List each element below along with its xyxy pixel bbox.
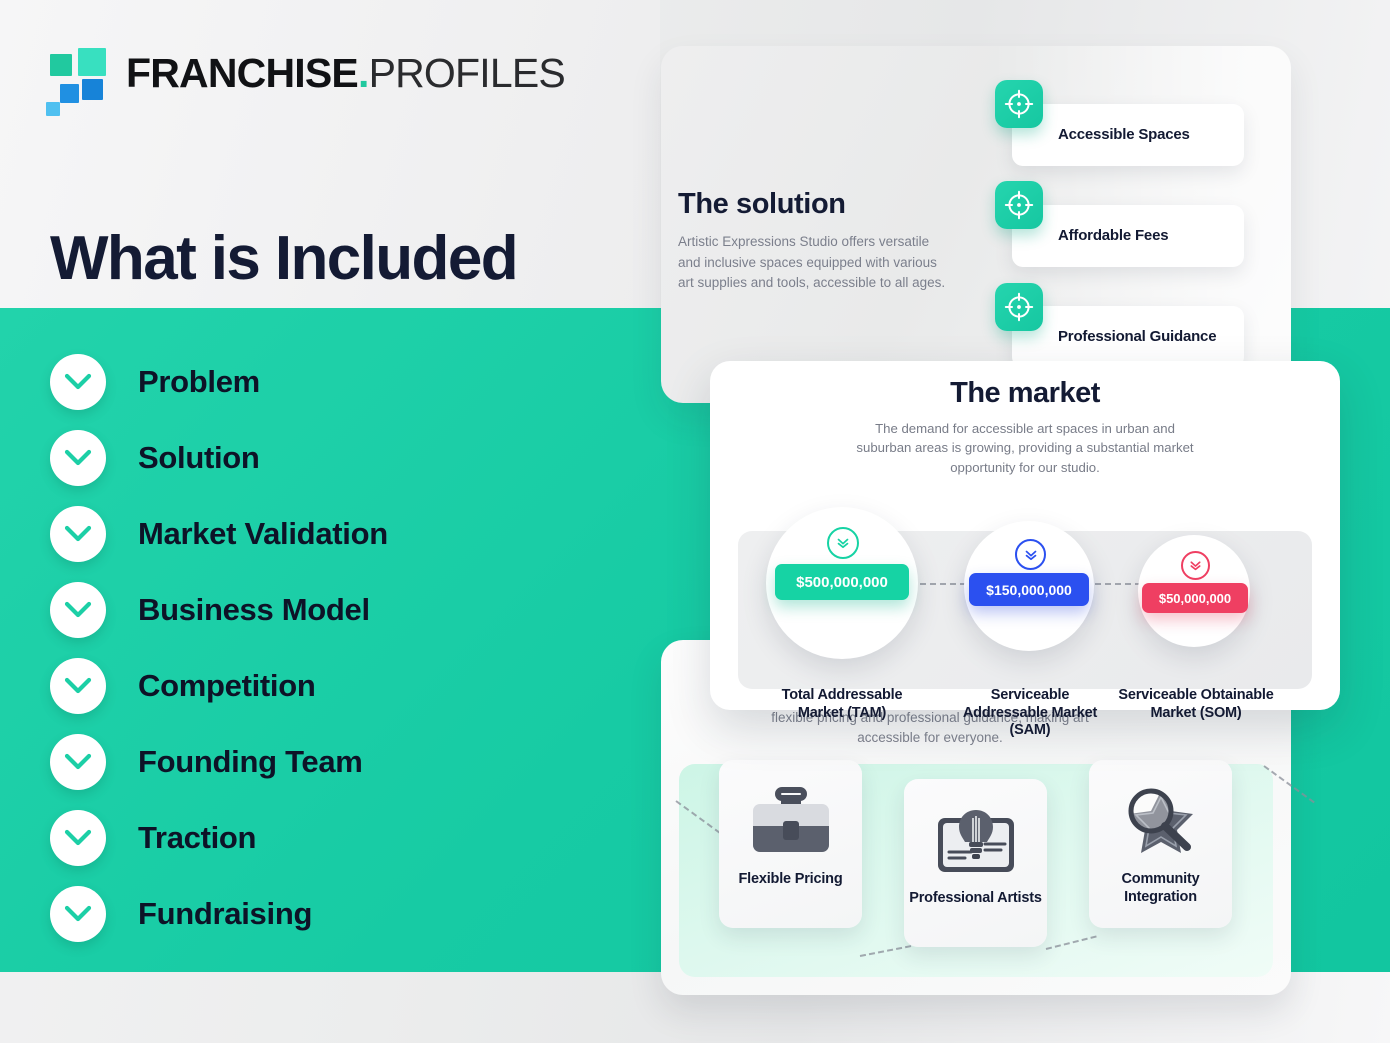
- sidebar-item-label: Market Validation: [138, 516, 388, 552]
- validation-card-flexible-pricing[interactable]: Flexible Pricing: [719, 760, 862, 928]
- validation-card-label: Professional Artists: [909, 889, 1041, 907]
- solution-feature-card[interactable]: Affordable Fees: [1012, 205, 1244, 267]
- chevron-down-icon: [50, 734, 106, 790]
- sidebar-item-market-validation[interactable]: Market Validation: [0, 496, 640, 572]
- double-chevron-down-icon: [827, 527, 859, 559]
- solution-heading: The solution: [678, 188, 846, 221]
- market-connector-1: [920, 583, 966, 585]
- brand-logo[interactable]: FRANCHISE.PROFILES: [46, 48, 565, 98]
- chevron-down-icon: [50, 430, 106, 486]
- lightbulb-screen-icon: [930, 797, 1022, 889]
- validation-card-label: Community Integration: [1089, 870, 1232, 906]
- solution-feature-card[interactable]: Accessible Spaces: [1012, 104, 1244, 166]
- solution-feature-label: Accessible Spaces: [1058, 126, 1190, 143]
- market-value-pill-som: $50,000,000: [1142, 583, 1248, 613]
- brand-wordmark: FRANCHISE.PROFILES: [126, 53, 565, 94]
- validation-card-professional-artists[interactable]: Professional Artists: [904, 779, 1047, 947]
- market-value-pill-tam: $500,000,000: [775, 564, 909, 600]
- chevron-down-icon: [50, 582, 106, 638]
- solution-feature-card[interactable]: Professional Guidance: [1012, 306, 1244, 368]
- market-body-text: The demand for accessible art spaces in …: [849, 419, 1201, 477]
- double-chevron-down-icon: [1015, 539, 1046, 570]
- double-chevron-down-icon: [1181, 551, 1210, 580]
- sidebar-item-label: Business Model: [138, 592, 370, 628]
- sidebar-item-label: Competition: [138, 668, 316, 704]
- market-caption-tam: Total Addressable Market (TAM): [758, 687, 926, 722]
- chevron-down-icon: [50, 354, 106, 410]
- page-title: What is Included: [50, 228, 517, 290]
- chevron-down-icon: [50, 658, 106, 714]
- market-value-label: $150,000,000: [986, 582, 1072, 598]
- sidebar-item-label: Fundraising: [138, 896, 312, 932]
- market-caption-som: Serviceable Obtainable Market (SOM): [1113, 687, 1279, 722]
- sidebar-item-fundraising[interactable]: Fundraising: [0, 876, 640, 952]
- chevron-down-icon: [50, 886, 106, 942]
- market-caption-sam: Serviceable Addressable Market (SAM): [947, 687, 1113, 740]
- sidebar-item-label: Solution: [138, 440, 260, 476]
- market-value-label: $50,000,000: [1159, 591, 1231, 606]
- solution-body-text: Artistic Expressions Studio offers versa…: [678, 232, 950, 294]
- crosshair-target-icon: [995, 181, 1043, 229]
- sidebar-item-label: Problem: [138, 364, 260, 400]
- market-card: The market The demand for accessible art…: [710, 361, 1340, 710]
- brand-name-light: PROFILES: [369, 50, 565, 96]
- solution-feature-label: Affordable Fees: [1058, 227, 1168, 244]
- sidebar-item-business-model[interactable]: Business Model: [0, 572, 640, 648]
- contents-list: Problem Solution Market Validation Busin…: [0, 308, 640, 972]
- chevron-down-icon: [50, 810, 106, 866]
- brand-name-dot: .: [358, 50, 369, 96]
- award-badge-magnifier-icon: [1115, 778, 1207, 870]
- franchise-profiles-logo-icon: [46, 48, 108, 98]
- validation-card-community-integration[interactable]: Community Integration: [1089, 760, 1232, 928]
- briefcase-icon: [745, 778, 837, 870]
- crosshair-target-icon: [995, 80, 1043, 128]
- sidebar-item-competition[interactable]: Competition: [0, 648, 640, 724]
- brand-name-bold: FRANCHISE: [126, 50, 358, 96]
- sidebar-item-problem[interactable]: Problem: [0, 344, 640, 420]
- market-value-label: $500,000,000: [796, 574, 888, 591]
- sidebar-item-founding-team[interactable]: Founding Team: [0, 724, 640, 800]
- market-chart: $500,000,000 Total Addressable Market (T…: [728, 507, 1322, 689]
- market-connector-2: [1095, 583, 1141, 585]
- market-value-pill-sam: $150,000,000: [969, 573, 1089, 606]
- crosshair-target-icon: [995, 283, 1043, 331]
- sidebar-item-label: Founding Team: [138, 744, 363, 780]
- chevron-down-icon: [50, 506, 106, 562]
- sidebar-item-label: Traction: [138, 820, 256, 856]
- sidebar-item-solution[interactable]: Solution: [0, 420, 640, 496]
- sidebar-item-traction[interactable]: Traction: [0, 800, 640, 876]
- solution-feature-label: Professional Guidance: [1058, 328, 1216, 345]
- validation-card-label: Flexible Pricing: [739, 870, 843, 888]
- market-title: The market: [710, 377, 1340, 410]
